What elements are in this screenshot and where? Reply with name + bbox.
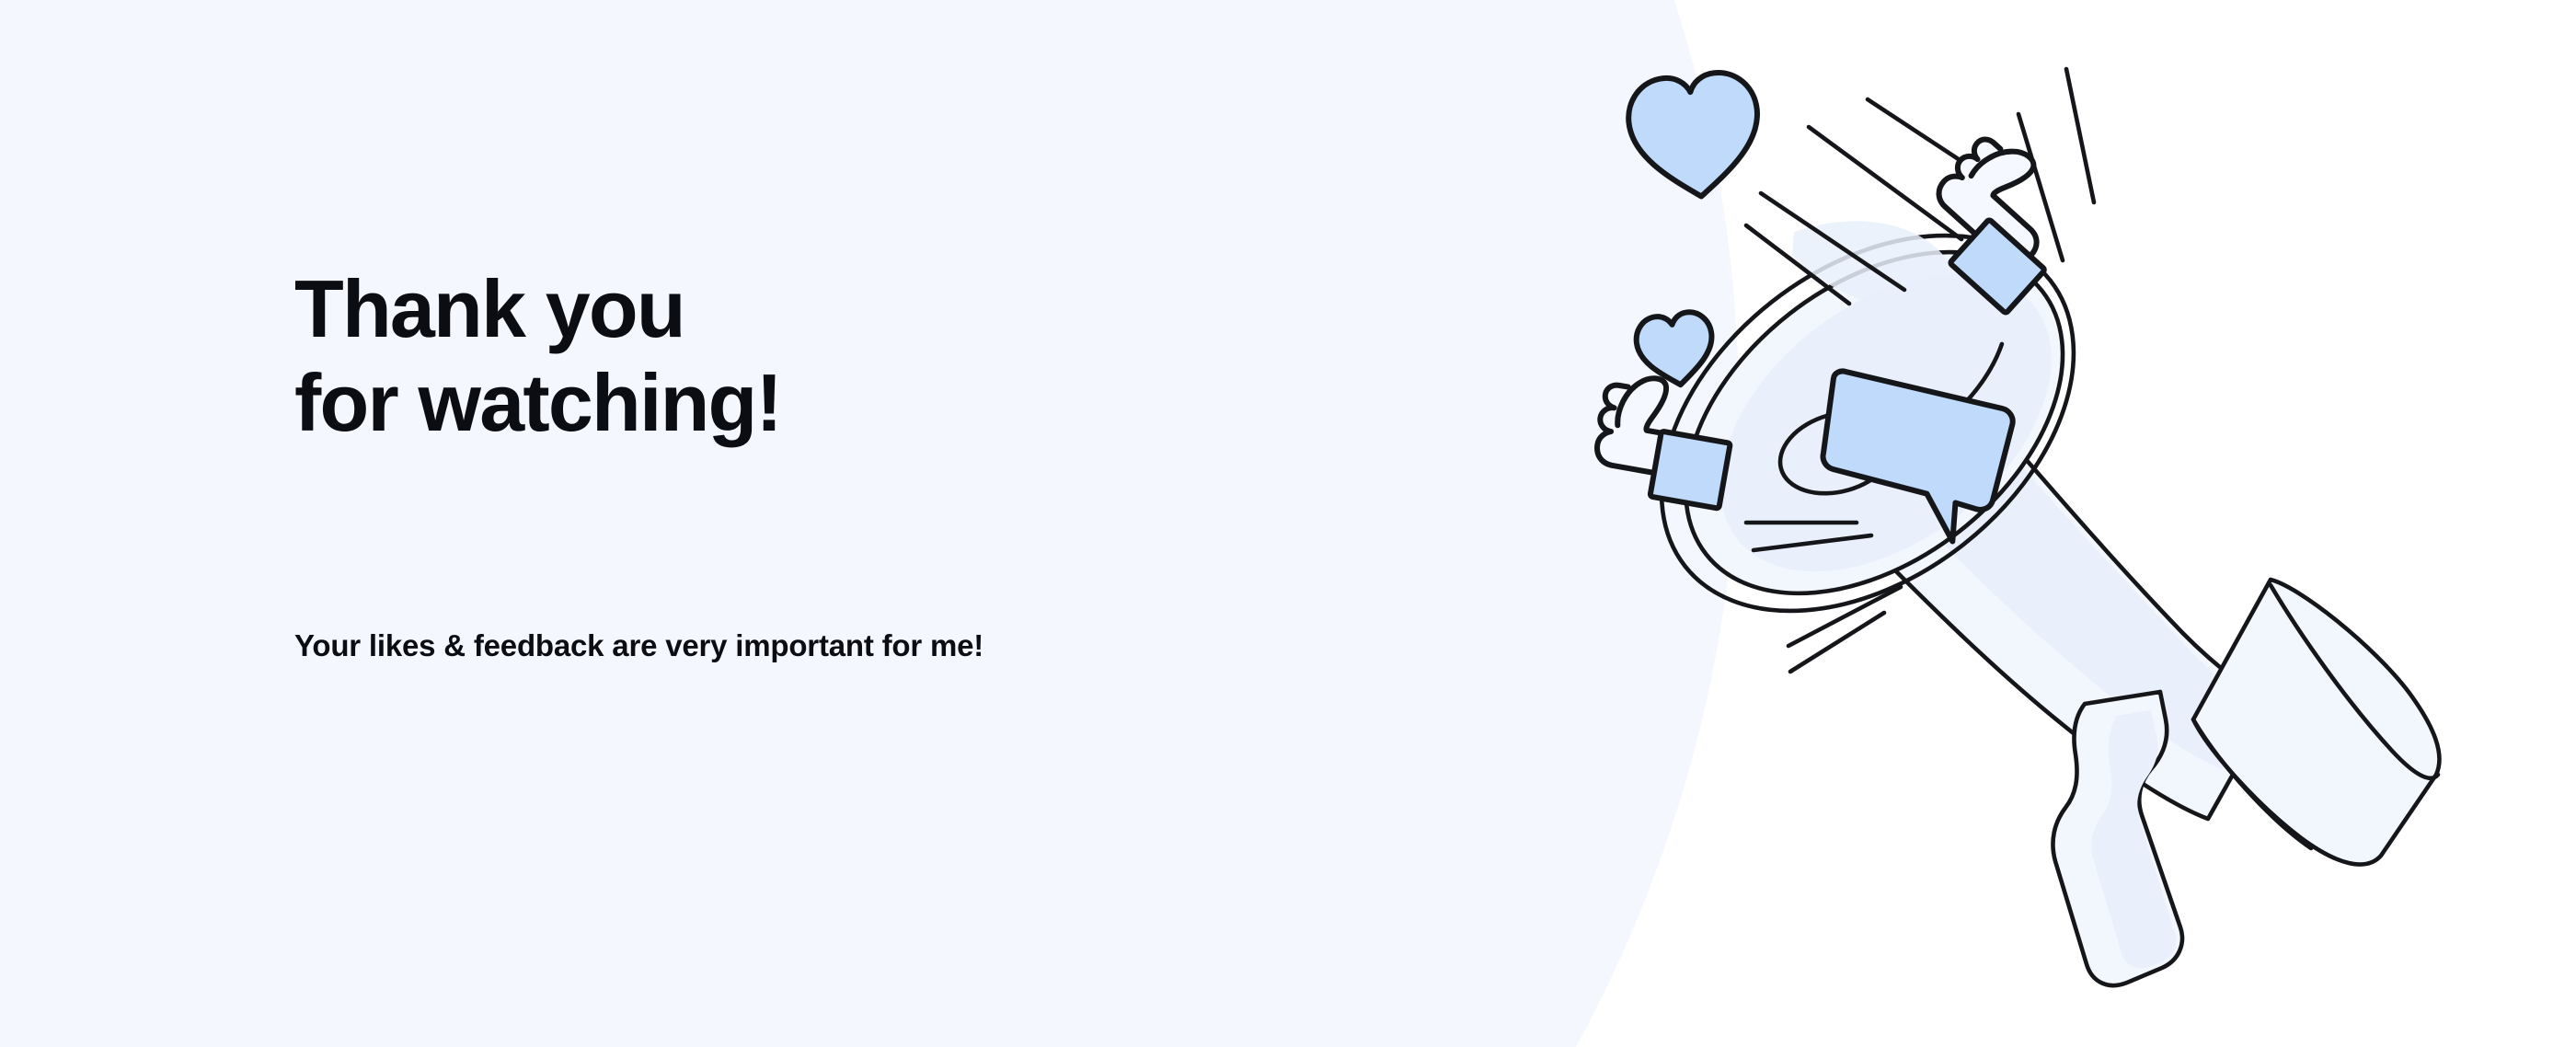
- megaphone-illustration: [1564, 28, 2576, 1012]
- subtitle-text: Your likes & feedback are very important…: [294, 628, 983, 663]
- slide-canvas: Thank you for watching! Your likes & fee…: [0, 0, 2576, 1047]
- heart-icon: [1625, 69, 1765, 203]
- page-title: Thank you for watching!: [294, 262, 1398, 450]
- background-panel-shape: [0, 0, 1739, 1047]
- text-block: Thank you for watching! Your likes & fee…: [294, 262, 1398, 450]
